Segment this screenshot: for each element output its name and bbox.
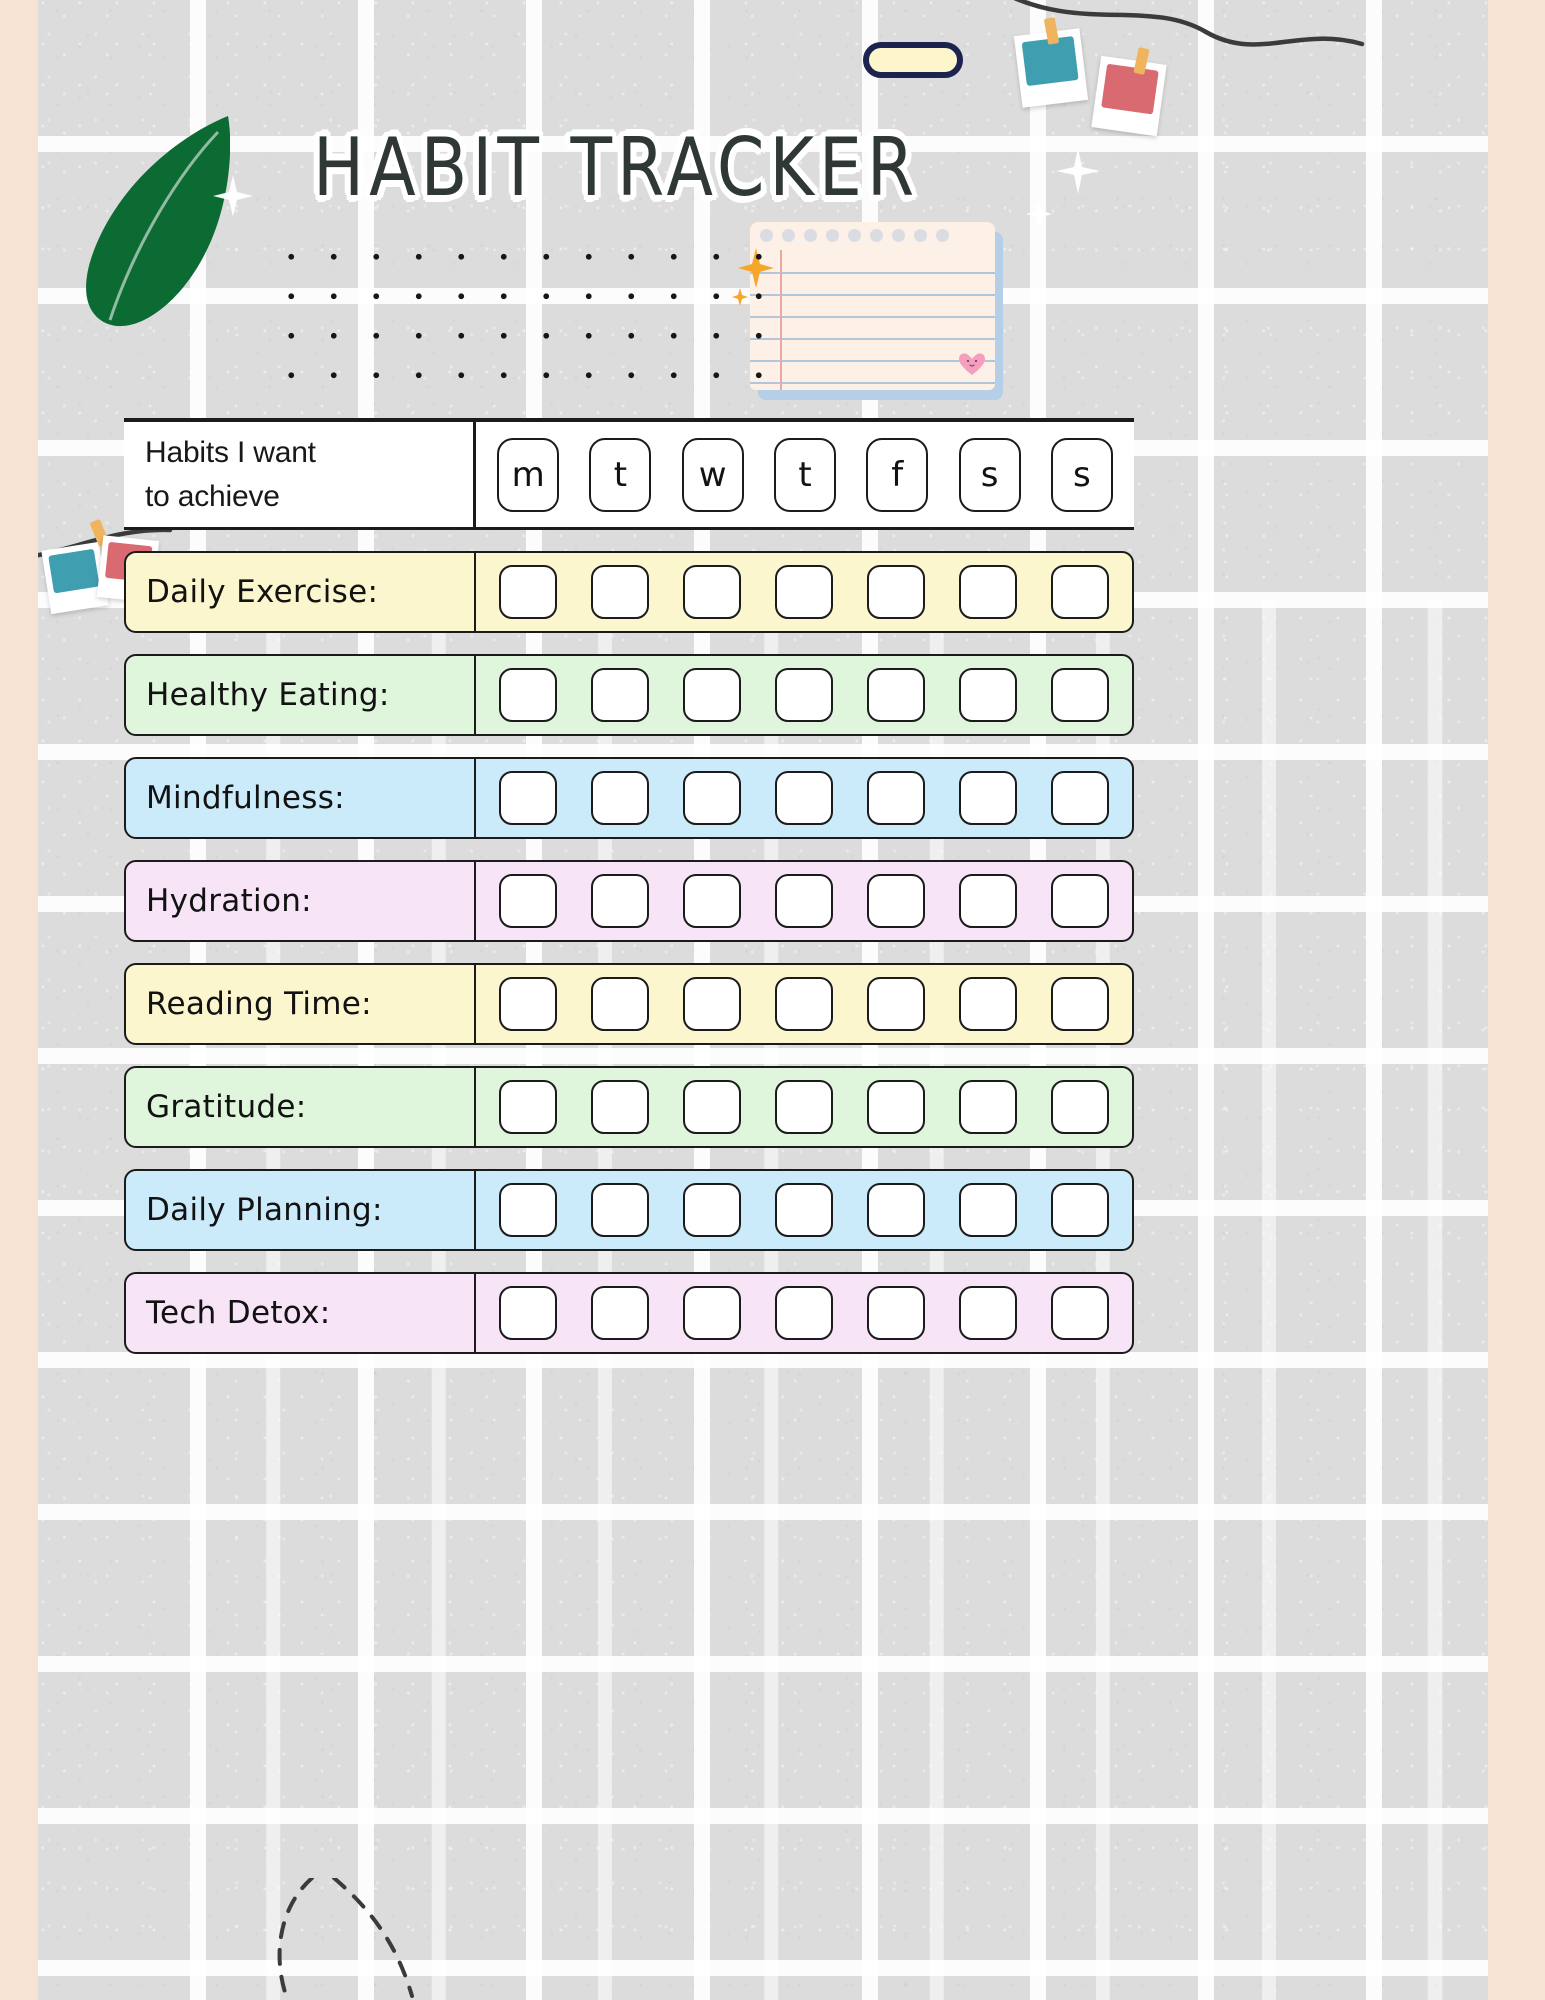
habit-checkbox[interactable] [1051, 1183, 1109, 1237]
habit-checkbox[interactable] [775, 1080, 833, 1134]
habit-checkbox[interactable] [499, 565, 557, 619]
habit-row: Healthy Eating: [124, 654, 1134, 736]
heart-icon [959, 352, 985, 376]
habit-row: Daily Exercise: [124, 551, 1134, 633]
habit-checkbox[interactable] [1051, 771, 1109, 825]
habit-checkbox[interactable] [775, 771, 833, 825]
habit-checkbox[interactable] [867, 1286, 925, 1340]
habit-checkbox[interactable] [1051, 1080, 1109, 1134]
habit-row: Gratitude: [124, 1066, 1134, 1148]
habit-checkbox-group [476, 965, 1132, 1043]
habit-checkbox[interactable] [683, 771, 741, 825]
table-header-label: Habits I want to achieve [124, 422, 476, 527]
habit-checkbox[interactable] [591, 668, 649, 722]
habit-checkbox[interactable] [499, 1080, 557, 1134]
habit-checkbox[interactable] [959, 1183, 1017, 1237]
habit-row-label: Daily Planning: [126, 1171, 476, 1249]
habit-checkbox[interactable] [959, 771, 1017, 825]
habit-checkbox[interactable] [867, 874, 925, 928]
habit-row: Reading Time: [124, 963, 1134, 1045]
photo-swatch [1101, 64, 1159, 115]
page-frame: HABIT TRACKER [0, 0, 1545, 2000]
habit-checkbox[interactable] [499, 1286, 557, 1340]
header-label-line2: to achieve [145, 475, 473, 519]
habit-checkbox[interactable] [591, 565, 649, 619]
habit-checkbox[interactable] [775, 668, 833, 722]
habit-checkbox[interactable] [591, 977, 649, 1031]
habit-checkbox-group [476, 1171, 1132, 1249]
habit-checkbox-group [476, 759, 1132, 837]
habit-row: Daily Planning: [124, 1169, 1134, 1251]
habit-checkbox[interactable] [1051, 565, 1109, 619]
habit-checkbox[interactable] [499, 668, 557, 722]
habit-checkbox[interactable] [775, 1183, 833, 1237]
sticky-note-holes [750, 222, 995, 248]
page-title: HABIT TRACKER [313, 122, 973, 216]
habit-checkbox[interactable] [683, 565, 741, 619]
habit-row: Mindfulness: [124, 757, 1134, 839]
habit-checkbox-group [476, 553, 1132, 631]
habit-checkbox[interactable] [1051, 874, 1109, 928]
pill-badge [863, 42, 963, 78]
day-header-group: m t w t f s s [476, 422, 1134, 527]
habit-checkbox[interactable] [775, 1286, 833, 1340]
sticky-note-margin-line [780, 250, 782, 390]
habit-checkbox[interactable] [683, 1080, 741, 1134]
habit-row-label: Healthy Eating: [126, 656, 476, 734]
habit-checkbox[interactable] [867, 1080, 925, 1134]
habit-checkbox[interactable] [499, 771, 557, 825]
habit-checkbox-group [476, 1068, 1132, 1146]
habit-checkbox[interactable] [867, 565, 925, 619]
habit-checkbox[interactable] [775, 874, 833, 928]
habit-checkbox[interactable] [683, 1286, 741, 1340]
habit-checkbox-group [476, 1274, 1132, 1352]
day-header-thursday[interactable]: t [774, 438, 836, 512]
day-header-tuesday[interactable]: t [589, 438, 651, 512]
day-header-sunday[interactable]: s [1051, 438, 1113, 512]
habit-checkbox[interactable] [683, 977, 741, 1031]
habit-checkbox[interactable] [867, 977, 925, 1031]
day-header-saturday[interactable]: s [959, 438, 1021, 512]
habit-row-label: Daily Exercise: [126, 553, 476, 631]
habit-row-label: Reading Time: [126, 965, 476, 1043]
header-label-line1: Habits I want [145, 431, 473, 475]
habit-checkbox[interactable] [775, 977, 833, 1031]
habit-checkbox[interactable] [1051, 977, 1109, 1031]
habit-checkbox[interactable] [959, 874, 1017, 928]
habit-checkbox[interactable] [499, 977, 557, 1031]
habit-rows-container: Daily Exercise:Healthy Eating:Mindfulnes… [124, 551, 1134, 1354]
habit-row-label: Hydration: [126, 862, 476, 940]
habit-checkbox[interactable] [1051, 1286, 1109, 1340]
habit-checkbox[interactable] [867, 1183, 925, 1237]
photo-swatch [48, 549, 99, 594]
habit-row: Tech Detox: [124, 1272, 1134, 1354]
day-header-friday[interactable]: f [866, 438, 928, 512]
table-header-row: Habits I want to achieve m t w t f s s [124, 418, 1134, 530]
habit-checkbox[interactable] [591, 1080, 649, 1134]
habit-row-label: Tech Detox: [126, 1274, 476, 1352]
habit-row-label: Gratitude: [126, 1068, 476, 1146]
habit-checkbox[interactable] [499, 1183, 557, 1237]
habit-checkbox[interactable] [591, 1286, 649, 1340]
habit-checkbox[interactable] [867, 668, 925, 722]
habit-checkbox[interactable] [1051, 668, 1109, 722]
habit-tracker-table: Habits I want to achieve m t w t f s s D… [124, 418, 1134, 1354]
habit-checkbox[interactable] [959, 565, 1017, 619]
habit-checkbox[interactable] [959, 668, 1017, 722]
habit-checkbox[interactable] [959, 1286, 1017, 1340]
habit-checkbox[interactable] [683, 874, 741, 928]
habit-checkbox-group [476, 656, 1132, 734]
habit-checkbox[interactable] [683, 668, 741, 722]
paper-canvas: HABIT TRACKER [38, 0, 1488, 2000]
habit-checkbox[interactable] [683, 1183, 741, 1237]
habit-checkbox[interactable] [959, 1080, 1017, 1134]
habit-row-label: Mindfulness: [126, 759, 476, 837]
day-header-monday[interactable]: m [497, 438, 559, 512]
photo-clip-red [1091, 56, 1166, 136]
habit-row: Hydration: [124, 860, 1134, 942]
habit-checkbox[interactable] [867, 771, 925, 825]
habit-checkbox-group [476, 862, 1132, 940]
habit-checkbox[interactable] [591, 874, 649, 928]
habit-checkbox[interactable] [591, 771, 649, 825]
dot-grid [266, 233, 776, 391]
day-header-wednesday[interactable]: w [682, 438, 744, 512]
habit-checkbox[interactable] [959, 977, 1017, 1031]
habit-checkbox[interactable] [775, 565, 833, 619]
sticky-note-body [750, 222, 995, 390]
habit-checkbox[interactable] [499, 874, 557, 928]
habit-checkbox[interactable] [591, 1183, 649, 1237]
sticky-note [750, 222, 1005, 400]
